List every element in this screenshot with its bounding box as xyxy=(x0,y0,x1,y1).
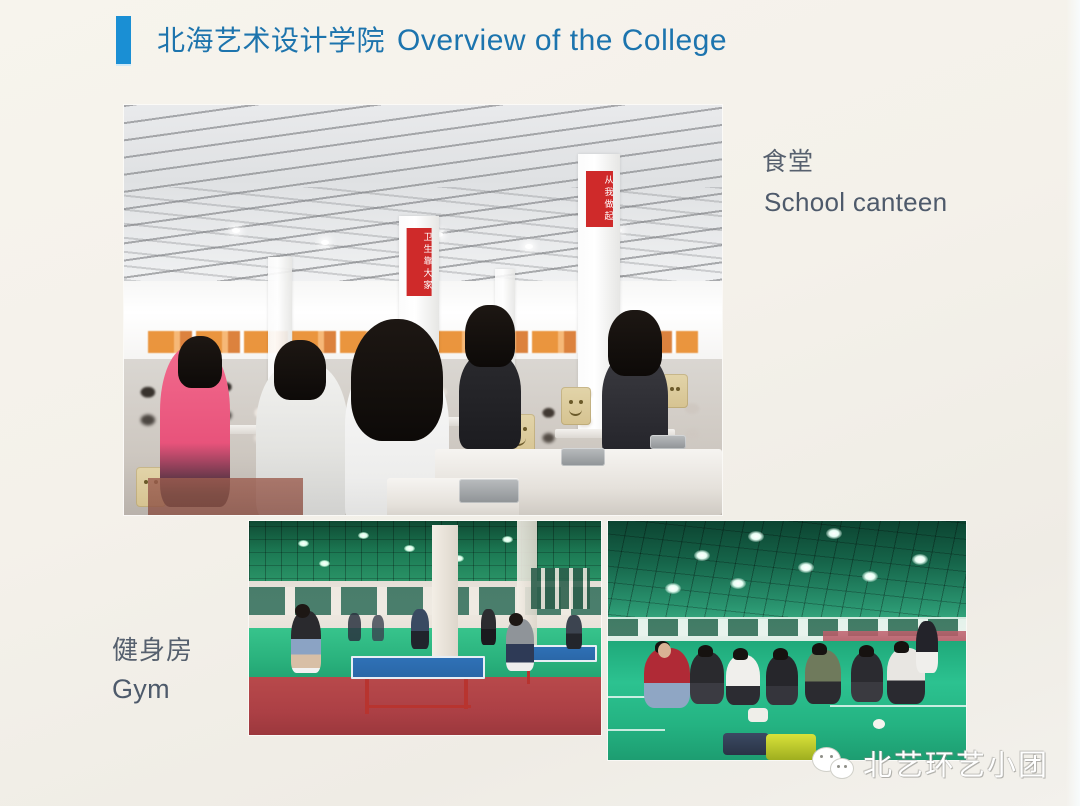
student-hair xyxy=(773,648,788,660)
caption-canteen-chinese: 食堂 xyxy=(762,147,947,178)
gym-player-background xyxy=(348,613,361,641)
caption-canteen-english: School canteen xyxy=(764,186,947,219)
table-leg xyxy=(365,679,369,713)
student-hair xyxy=(812,643,827,655)
student-hair xyxy=(859,645,874,657)
badminton-scene xyxy=(608,521,966,760)
student-hair xyxy=(465,305,515,367)
seated-student xyxy=(766,655,798,705)
sports-bag xyxy=(723,733,769,755)
gym-player-background xyxy=(481,609,496,645)
meal-tray xyxy=(561,448,605,466)
student-hair xyxy=(608,310,662,376)
shuttlecock xyxy=(873,719,885,729)
floor-mat xyxy=(148,478,303,515)
gym-ceiling-lamp xyxy=(694,550,710,561)
page-title: 北海艺术设计学院Overview of the College xyxy=(116,14,727,66)
student-hair xyxy=(733,648,748,660)
student-hair xyxy=(274,340,326,400)
pillar-banner-text: 从我做起 xyxy=(586,171,612,227)
gym-ceiling-lamp xyxy=(748,531,764,542)
gym-player-background xyxy=(566,615,582,649)
meal-tray xyxy=(459,479,519,503)
caption-gym: 健身房 Gym xyxy=(112,634,193,706)
photo-gym-badminton xyxy=(608,521,966,760)
gym-ceiling-lamp xyxy=(358,532,369,539)
gym-player xyxy=(506,619,534,671)
standing-student xyxy=(916,621,938,673)
canteen-scene: 卫生靠大家 从我做起 xyxy=(124,105,722,515)
student-hair xyxy=(178,336,222,388)
caption-gym-chinese: 健身房 xyxy=(112,634,193,667)
ping-pong-table xyxy=(351,656,485,680)
gym-pillar xyxy=(432,525,458,671)
meal-tray xyxy=(650,435,686,449)
student-hair xyxy=(351,319,443,441)
title-text-group: 北海艺术设计学院Overview of the College xyxy=(157,26,727,56)
title-chinese: 北海艺术设计学院 xyxy=(157,25,385,56)
smiley-chair xyxy=(561,387,591,425)
table-base xyxy=(365,705,471,708)
student-hair xyxy=(894,641,909,653)
gym-player xyxy=(291,611,321,673)
photo-gym-table-tennis xyxy=(249,521,601,735)
sports-bag xyxy=(766,734,816,760)
caption-school-canteen: 食堂 School canteen xyxy=(762,147,947,219)
gym-player-background xyxy=(372,615,384,641)
seated-student xyxy=(726,655,760,705)
caption-gym-english: Gym xyxy=(112,673,193,707)
photo-school-canteen: 卫生靠大家 从我做起 xyxy=(124,105,722,515)
title-accent-bar xyxy=(116,16,131,64)
water-bottle xyxy=(748,708,768,722)
student-hair xyxy=(698,645,713,657)
seated-student xyxy=(851,652,883,702)
badminton-ceiling-truss xyxy=(608,521,966,631)
gym-ceiling-lamp xyxy=(798,562,814,573)
slide-canvas: 北海艺术设计学院Overview of the College 卫生靠大家 从我… xyxy=(0,0,1080,806)
gym-player-background xyxy=(411,609,429,649)
court-line xyxy=(608,729,665,731)
gym-window-grid xyxy=(531,568,591,609)
gym-ceiling-lamp xyxy=(404,545,415,552)
gym-ceiling-lamp xyxy=(319,560,330,567)
table-tennis-scene xyxy=(249,521,601,735)
seated-student xyxy=(690,652,724,704)
pillar-banner-text: 卫生靠大家 xyxy=(407,228,432,296)
foreground-student-dark xyxy=(459,353,521,449)
court-line xyxy=(830,705,966,707)
student-head xyxy=(658,643,671,658)
title-english: Overview of the College xyxy=(397,24,727,57)
seated-student xyxy=(805,650,841,704)
ceiling-lamp xyxy=(232,228,240,233)
